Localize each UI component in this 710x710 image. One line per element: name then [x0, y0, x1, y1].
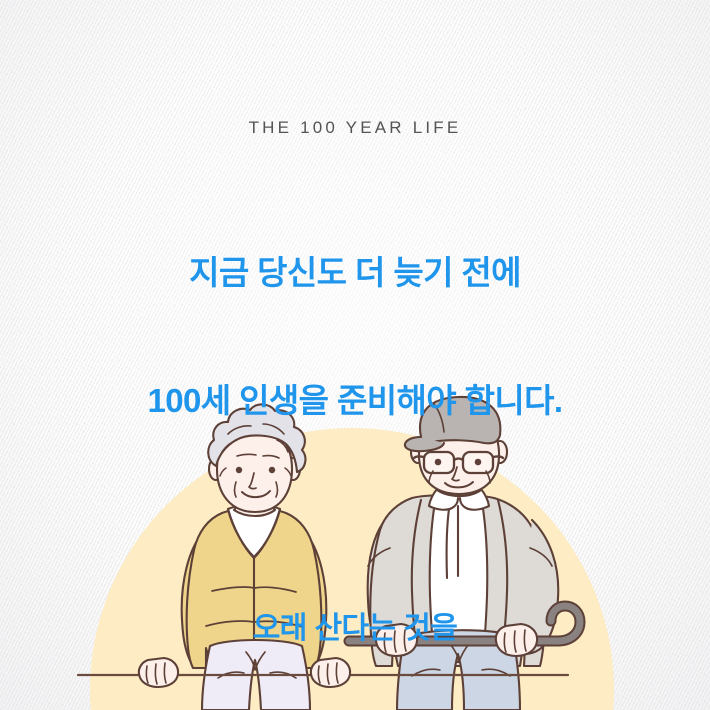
- poster-card: THE 100 YEAR LIFE 지금 당신도 더 늦기 전에 100세 인생…: [0, 0, 710, 710]
- headline-secondary-line-1: 오래 산다는 것을: [0, 609, 710, 648]
- headline-primary: 지금 당신도 더 늦기 전에 100세 인생을 준비해야 합니다.: [0, 166, 710, 509]
- headline-primary-line-2: 100세 인생을 준비해야 합니다.: [0, 380, 710, 423]
- headline-primary-line-1: 지금 당신도 더 늦기 전에: [0, 252, 710, 295]
- text-block: THE 100 YEAR LIFE 지금 당신도 더 늦기 전에 100세 인생…: [0, 0, 710, 710]
- eyebrow-title: THE 100 YEAR LIFE: [0, 119, 710, 136]
- headline-secondary: 오래 산다는 것을 저주가 아닌 선물로 만들려면 말이죠.: [0, 531, 710, 710]
